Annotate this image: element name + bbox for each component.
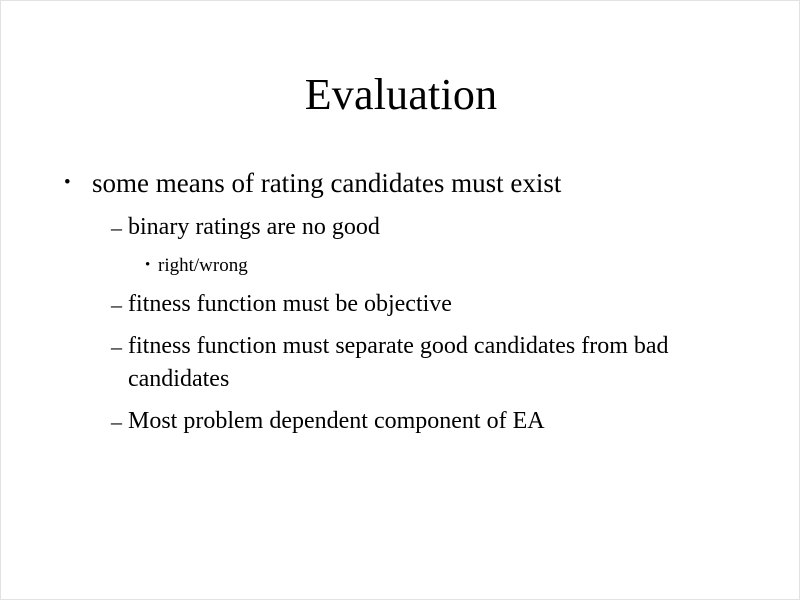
outline-item-label: Most problem dependent component of EA bbox=[128, 405, 746, 438]
outline-item-label: some means of rating candidates must exi… bbox=[92, 164, 746, 202]
outline-item-level2[interactable]: – binary ratings are no good bbox=[56, 211, 746, 244]
dash-marker-level2: – bbox=[111, 330, 122, 363]
outline-item-level2[interactable]: – Most problem dependent component of EA bbox=[56, 405, 746, 438]
outline-item-level2[interactable]: – fitness function must separate good ca… bbox=[56, 330, 746, 396]
slide-body-outline: • some means of rating candidates must e… bbox=[56, 164, 746, 438]
bullet-marker-level3: • bbox=[145, 252, 150, 279]
outline-item-level3[interactable]: • right/wrong bbox=[56, 252, 746, 279]
presentation-slide: Evaluation • some means of rating candid… bbox=[0, 0, 800, 600]
page-title: Evaluation bbox=[1, 69, 800, 121]
outline-item-label: fitness function must be objective bbox=[128, 288, 746, 321]
outline-item-label: right/wrong bbox=[158, 252, 746, 279]
dash-marker-level2: – bbox=[111, 211, 122, 244]
outline-item-level1[interactable]: • some means of rating candidates must e… bbox=[56, 164, 746, 202]
outline-item-level2[interactable]: – fitness function must be objective bbox=[56, 288, 746, 321]
dash-marker-level2: – bbox=[111, 405, 122, 438]
dash-marker-level2: – bbox=[111, 288, 122, 321]
bullet-marker-level1: • bbox=[64, 164, 71, 202]
outline-item-label: binary ratings are no good bbox=[128, 211, 746, 244]
outline-item-label: fitness function must separate good cand… bbox=[128, 330, 746, 396]
